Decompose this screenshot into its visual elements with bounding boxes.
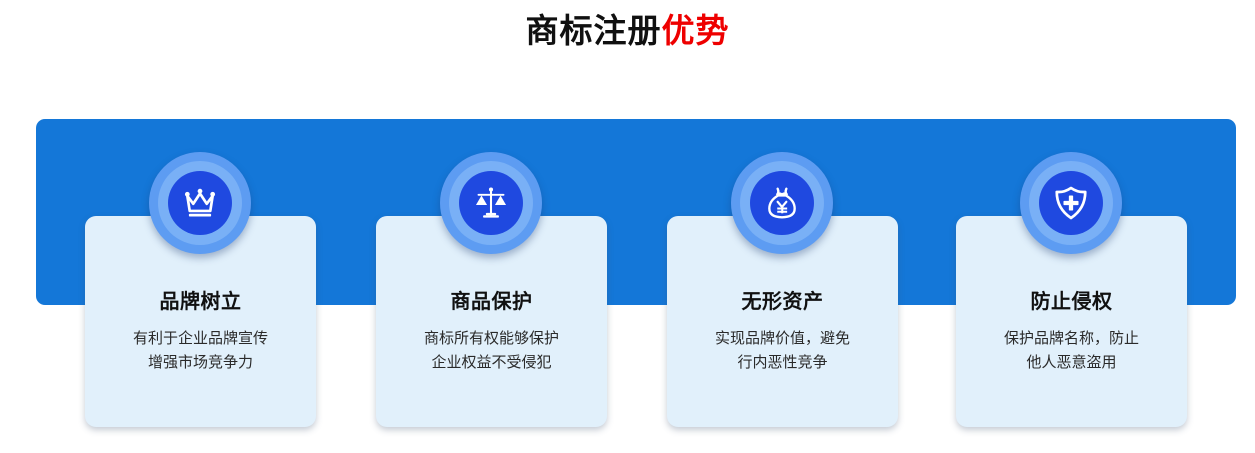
- icon-ring-core: [168, 171, 232, 235]
- shield-plus-icon: [1052, 184, 1090, 222]
- card-title: 商品保护: [376, 288, 607, 314]
- card-description: 有利于企业品牌宣传 增强市场竞争力: [93, 326, 308, 374]
- money-bag-yuan-icon: [763, 184, 801, 222]
- card-description-line: 增强市场竞争力: [93, 350, 308, 374]
- icon-badge-infringement-prevention: [1020, 152, 1122, 254]
- icon-badge-brand-building: [149, 152, 251, 254]
- advantage-cards-group: 品牌树立 有利于企业品牌宣传 增强市场竞争力 商品保护 商标所有权能够保护 企业…: [0, 0, 1255, 453]
- card-description-line: 商标所有权能够保护: [384, 326, 599, 350]
- icon-badge-goods-protection: [440, 152, 542, 254]
- card-description: 保护品牌名称，防止 他人恶意盗用: [964, 326, 1179, 374]
- card-description: 实现品牌价值，避免 行内恶性竞争: [675, 326, 890, 374]
- icon-ring-core: [1039, 171, 1103, 235]
- icon-ring-middle: [449, 161, 533, 245]
- card-title: 防止侵权: [956, 288, 1187, 314]
- icon-ring-middle: [1029, 161, 1113, 245]
- card-description-line: 企业权益不受侵犯: [384, 350, 599, 374]
- crown-icon: [181, 184, 219, 222]
- icon-ring-middle: [740, 161, 824, 245]
- scales-balance-icon: [472, 184, 510, 222]
- card-title: 无形资产: [667, 288, 898, 314]
- card-description-line: 他人恶意盗用: [964, 350, 1179, 374]
- card-title: 品牌树立: [85, 288, 316, 314]
- card-description-line: 保护品牌名称，防止: [964, 326, 1179, 350]
- icon-ring-core: [459, 171, 523, 235]
- card-description: 商标所有权能够保护 企业权益不受侵犯: [384, 326, 599, 374]
- icon-ring-middle: [158, 161, 242, 245]
- card-description-line: 有利于企业品牌宣传: [93, 326, 308, 350]
- icon-badge-intangible-asset: [731, 152, 833, 254]
- card-description-line: 实现品牌价值，避免: [675, 326, 890, 350]
- card-description-line: 行内恶性竞争: [675, 350, 890, 374]
- icon-ring-core: [750, 171, 814, 235]
